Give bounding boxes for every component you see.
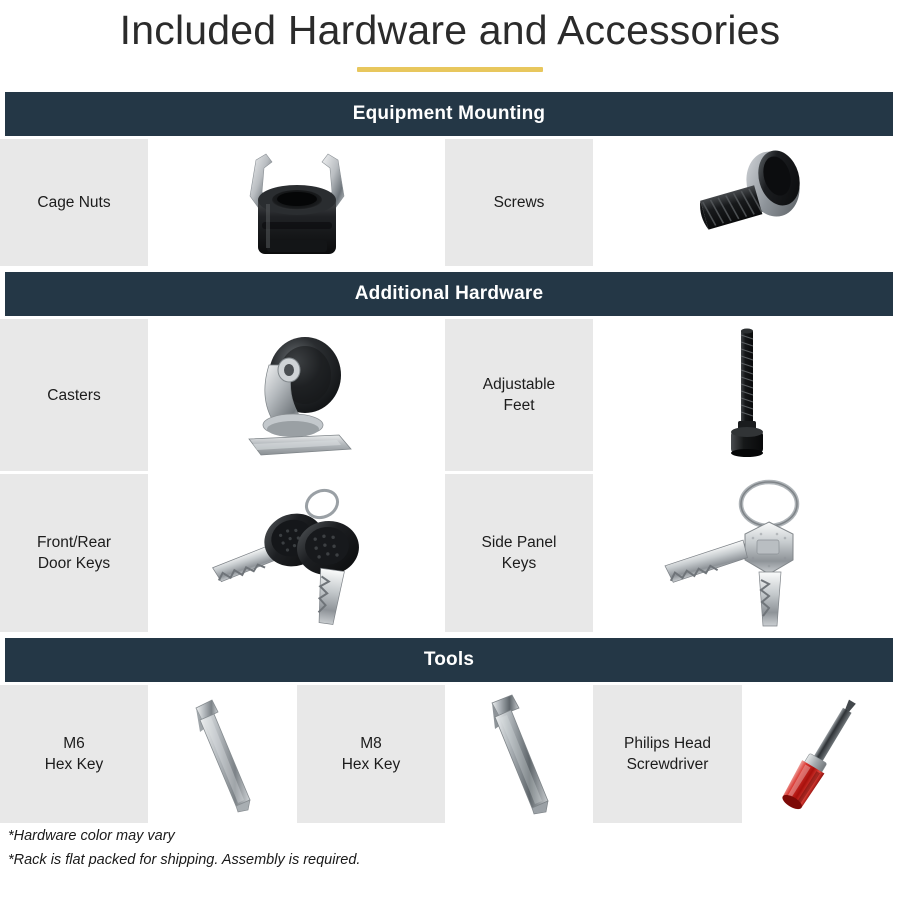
item-image-m8-hex-key — [445, 685, 593, 823]
label-text: Screws — [494, 192, 545, 213]
row-keys: Front/Rear Door Keys — [0, 474, 900, 632]
label-line-1: Adjustable — [483, 376, 555, 393]
item-label-adjustable-feet: Adjustable Feet — [445, 319, 593, 471]
label-text: Philips Head Screwdriver — [624, 733, 711, 775]
label-text: Adjustable Feet — [483, 374, 555, 416]
item-image-cage-nuts — [148, 139, 445, 266]
item-image-side-panel-keys — [593, 474, 900, 632]
label-line-1: Front/Rear — [37, 534, 111, 551]
label-line-2: Feet — [503, 397, 534, 414]
section-header-tools: Tools — [5, 638, 893, 682]
footnote-1: *Hardware color may vary — [8, 824, 360, 848]
footnotes: *Hardware color may vary *Rack is flat p… — [8, 824, 360, 872]
item-label-cage-nuts: Cage Nuts — [0, 139, 148, 266]
cage-nut-photo — [222, 144, 372, 262]
label-line-2: Hex Key — [342, 756, 401, 773]
item-label-front-rear-door-keys: Front/Rear Door Keys — [0, 474, 148, 632]
section-title: Additional Hardware — [355, 283, 544, 305]
section-title: Equipment Mounting — [353, 103, 546, 125]
label-text: Cage Nuts — [37, 192, 110, 213]
section-header-additional-hardware: Additional Hardware — [5, 272, 893, 316]
item-image-front-rear-door-keys — [148, 474, 445, 632]
section-header-equipment-mounting: Equipment Mounting — [5, 92, 893, 136]
hex-key-m6-photo — [178, 692, 268, 817]
item-label-m6-hex-key: M6 Hex Key — [0, 685, 148, 823]
label-text: Side Panel Keys — [482, 532, 557, 574]
screw-photo — [677, 144, 817, 262]
row-tools: M6 Hex Key — [0, 685, 900, 823]
adjustable-foot-photo — [712, 325, 782, 465]
label-line-2: Keys — [502, 555, 536, 572]
label-line-1: Philips Head — [624, 735, 711, 752]
label-line-2: Door Keys — [38, 555, 110, 572]
item-label-screws: Screws — [445, 139, 593, 266]
row-equipment-mounting: Cage Nuts — [0, 139, 900, 266]
item-image-philips-head-screwdriver — [742, 685, 900, 823]
item-image-adjustable-feet — [593, 319, 900, 471]
label-text: M6 Hex Key — [45, 733, 104, 775]
product-spec-sheet: Included Hardware and Accessories Equipm… — [0, 0, 900, 900]
side-panel-keys-photo — [657, 478, 837, 628]
caster-photo — [227, 325, 367, 465]
row-casters-feet: Casters — [0, 319, 900, 471]
philips-screwdriver-photo — [766, 689, 876, 819]
label-text: Front/Rear Door Keys — [37, 532, 111, 574]
item-image-m6-hex-key — [148, 685, 297, 823]
title-block: Included Hardware and Accessories — [0, 0, 900, 72]
item-label-philips-head-screwdriver: Philips Head Screwdriver — [593, 685, 742, 823]
item-image-casters — [148, 319, 445, 471]
label-text: M8 Hex Key — [342, 733, 401, 775]
label-line-1: Side Panel — [482, 534, 557, 551]
item-label-casters: Casters — [0, 319, 148, 471]
section-title: Tools — [424, 649, 474, 671]
hex-key-m8-photo — [472, 689, 567, 819]
label-line-2: Hex Key — [45, 756, 104, 773]
page-title: Included Hardware and Accessories — [0, 4, 900, 56]
door-keys-photo — [202, 478, 392, 628]
item-label-side-panel-keys: Side Panel Keys — [445, 474, 593, 632]
label-text: Casters — [47, 385, 100, 406]
label-line-2: Screwdriver — [627, 756, 709, 773]
footnote-2: *Rack is flat packed for shipping. Assem… — [8, 848, 360, 872]
label-line-1: M8 — [360, 735, 382, 752]
item-image-screws — [593, 139, 900, 266]
label-line-1: M6 — [63, 735, 85, 752]
item-label-m8-hex-key: M8 Hex Key — [297, 685, 445, 823]
